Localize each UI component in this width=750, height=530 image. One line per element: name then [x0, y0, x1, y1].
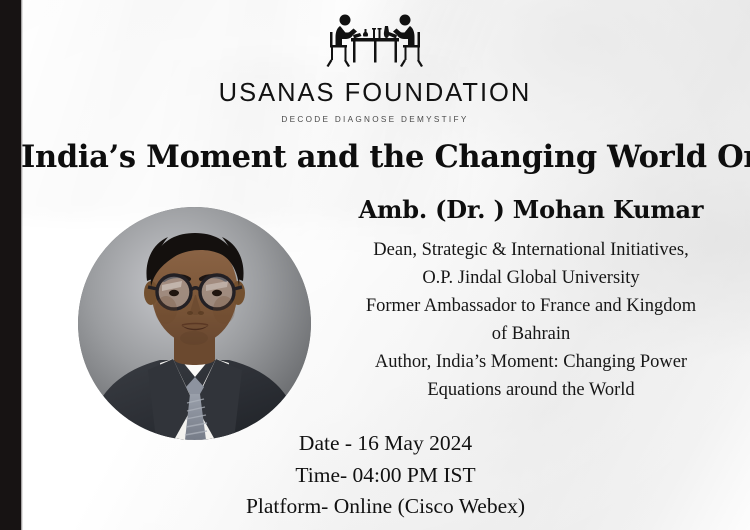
- two-people-at-table-icon: [322, 10, 428, 72]
- speaker-description-line: of Bahrain: [320, 320, 742, 348]
- speaker-description-line: O.P. Jindal Global University: [320, 264, 742, 292]
- left-accent-bar: [0, 0, 21, 530]
- event-details: Date - 16 May 2024 Time- 04:00 PM IST Pl…: [21, 428, 750, 523]
- speaker-description-line: Equations around the World: [320, 376, 742, 404]
- logo-tagline: DECODE DIAGNOSE DEMYSTIFY: [281, 116, 468, 124]
- speaker-portrait: [78, 207, 311, 440]
- speaker-description-line: Dean, Strategic & International Initiati…: [320, 236, 742, 264]
- page-title: India’s Moment and the Changing World Or…: [21, 140, 750, 174]
- logo-wordmark: USANAS FOUNDATION: [219, 81, 532, 107]
- brand-logo-block: USANAS FOUNDATION DECODE DIAGNOSE DEMYST…: [0, 10, 750, 124]
- speaker-info: Amb. (Dr. ) Mohan Kumar Dean, Strategic …: [320, 196, 742, 404]
- speaker-description: Dean, Strategic & International Initiati…: [320, 236, 742, 405]
- speaker-description-line: Former Ambassador to France and Kingdom: [320, 292, 742, 320]
- event-poster: USANAS FOUNDATION DECODE DIAGNOSE DEMYST…: [0, 0, 750, 530]
- event-date: Date - 16 May 2024: [21, 428, 750, 460]
- event-platform: Platform- Online (Cisco Webex): [21, 491, 750, 523]
- event-time: Time- 04:00 PM IST: [21, 460, 750, 492]
- speaker-description-line: Author, India’s Moment: Changing Power: [320, 348, 742, 376]
- speaker-name: Amb. (Dr. ) Mohan Kumar: [320, 196, 742, 225]
